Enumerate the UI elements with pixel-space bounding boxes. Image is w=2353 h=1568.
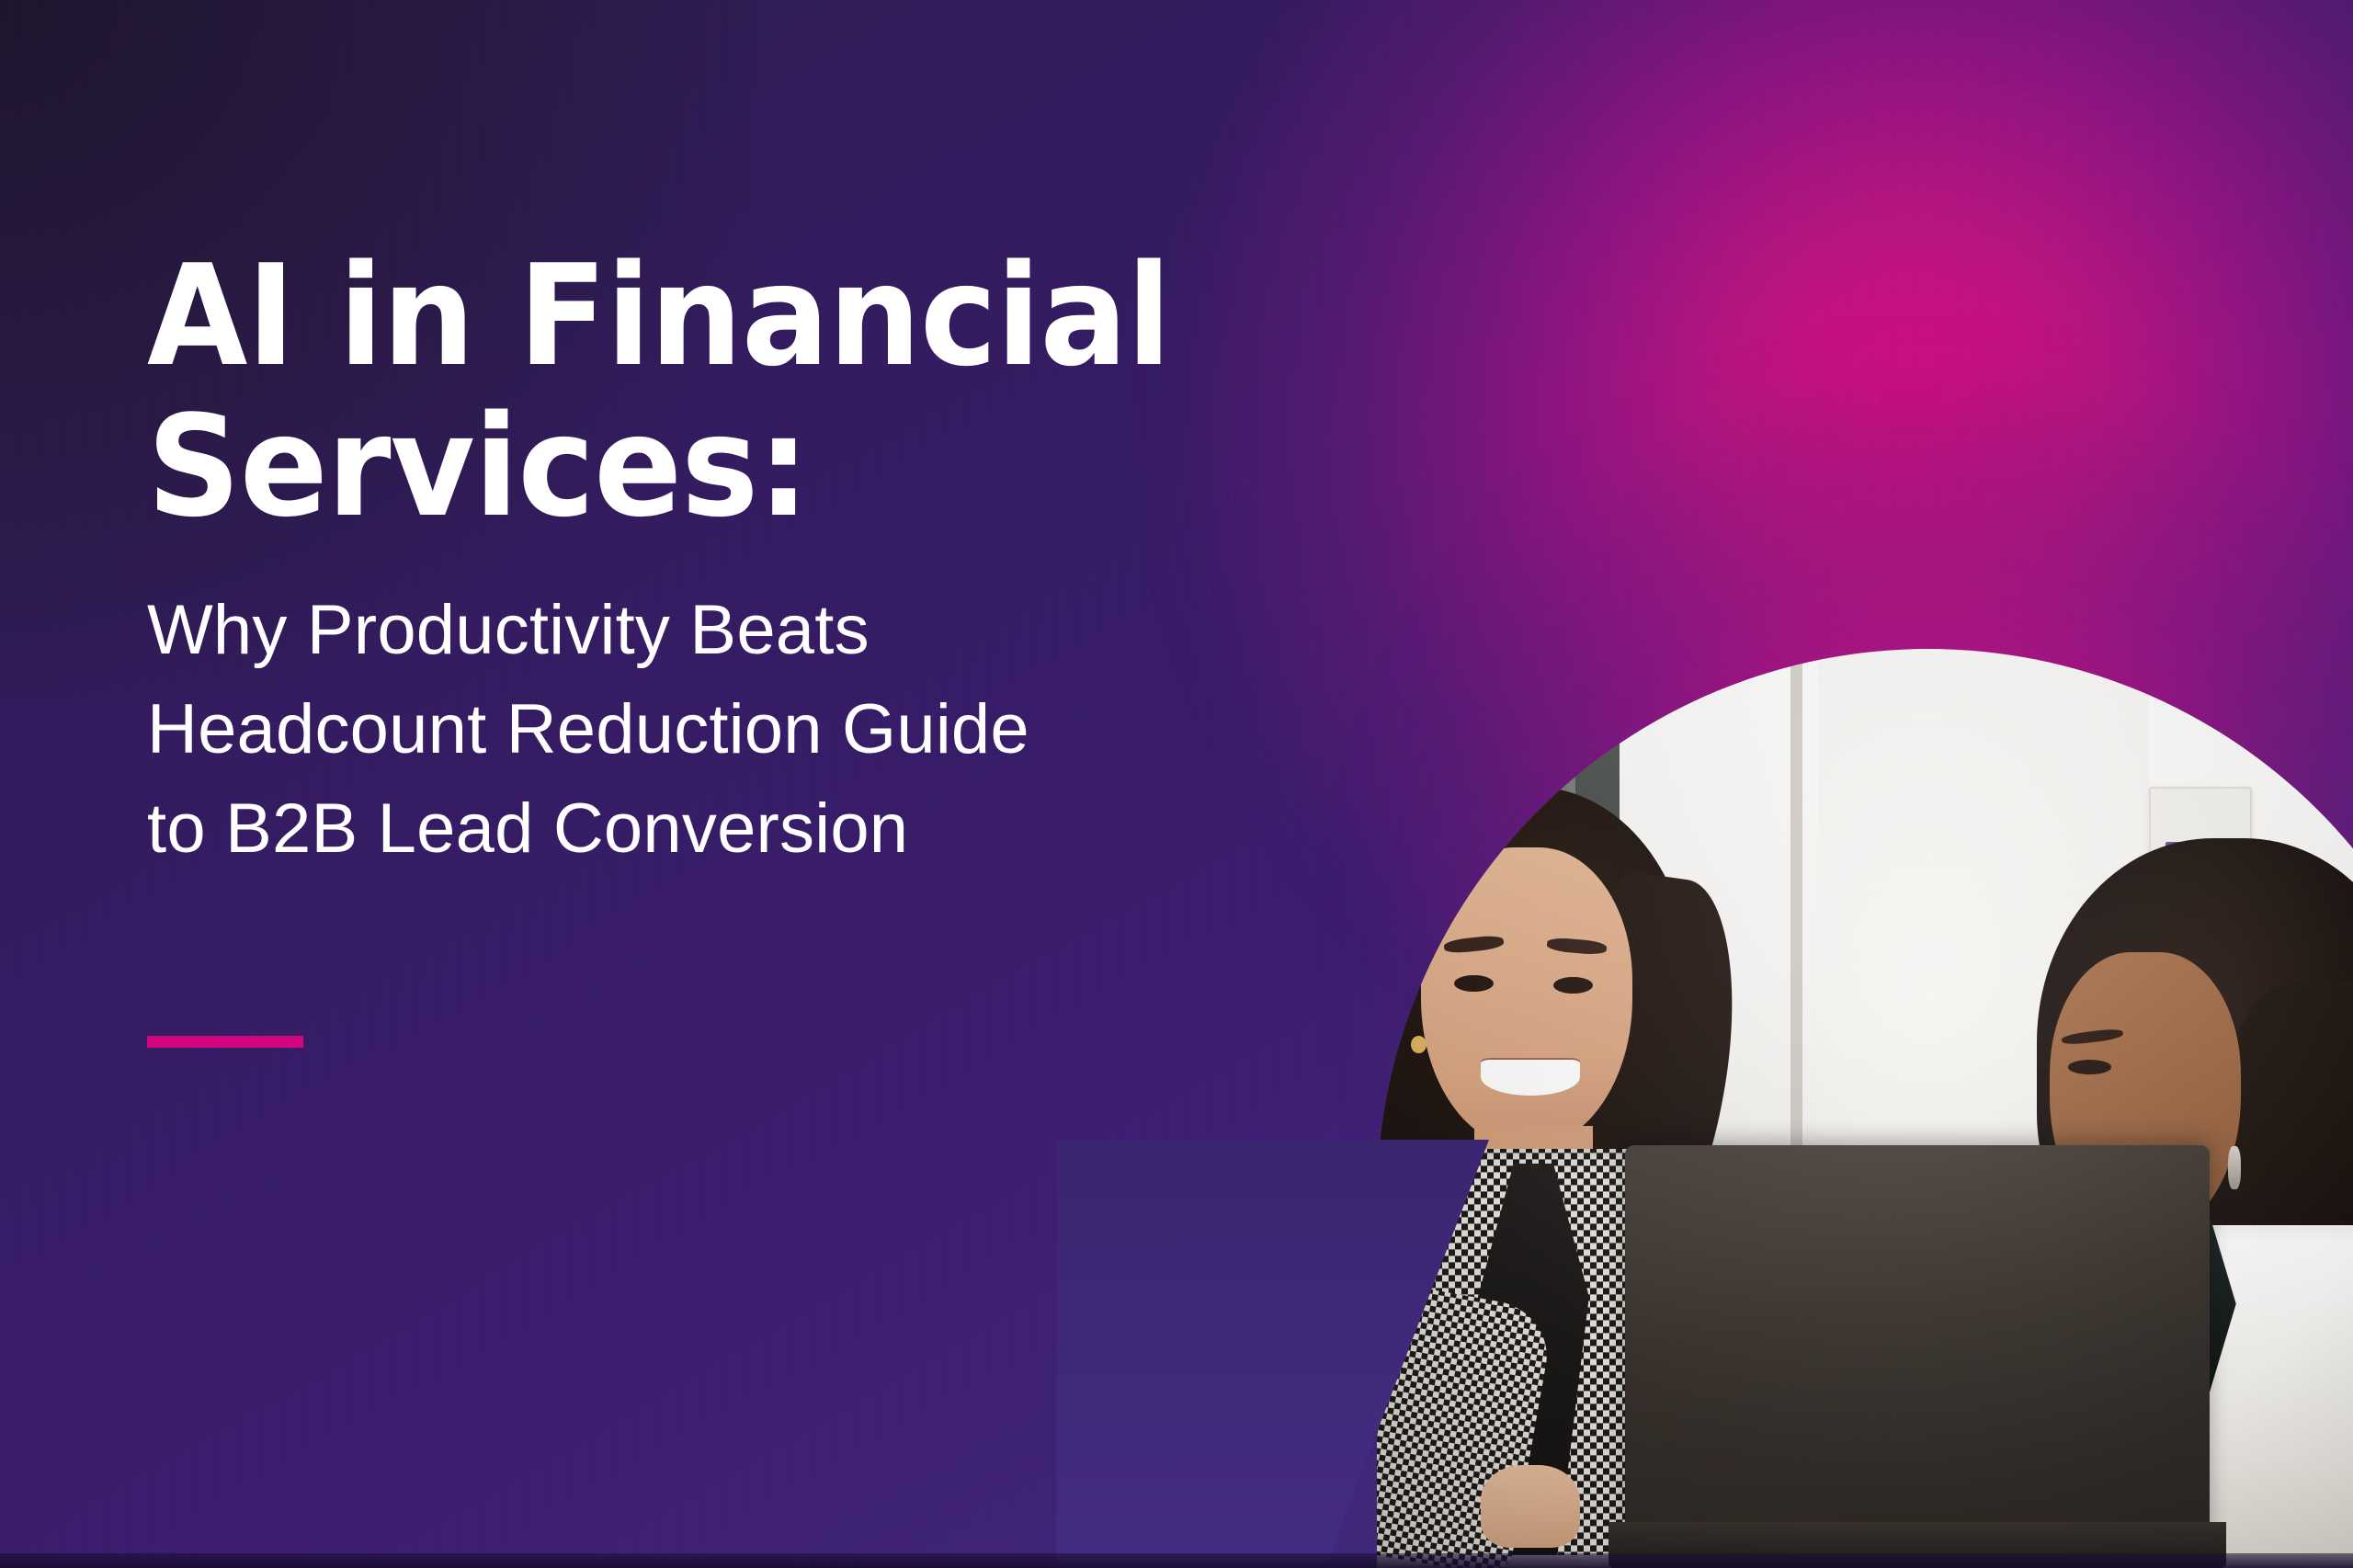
photo-tone-overlay xyxy=(1377,649,2353,1568)
bottom-edge-strip xyxy=(0,1553,2353,1568)
page-subtitle: Why Productivity Beats Headcount Reducti… xyxy=(147,542,1370,879)
hero-banner: AI in Financial Services: Why Productivi… xyxy=(0,0,2353,1568)
office-scene xyxy=(1377,649,2353,1568)
hero-copy-block: AI in Financial Services: Why Productivi… xyxy=(147,241,1370,879)
page-title: AI in Financial Services: xyxy=(147,241,1284,542)
hero-photo-clip xyxy=(1377,649,2353,1568)
accent-rule xyxy=(147,1036,303,1048)
hero-photo-arch xyxy=(1377,649,2353,1568)
